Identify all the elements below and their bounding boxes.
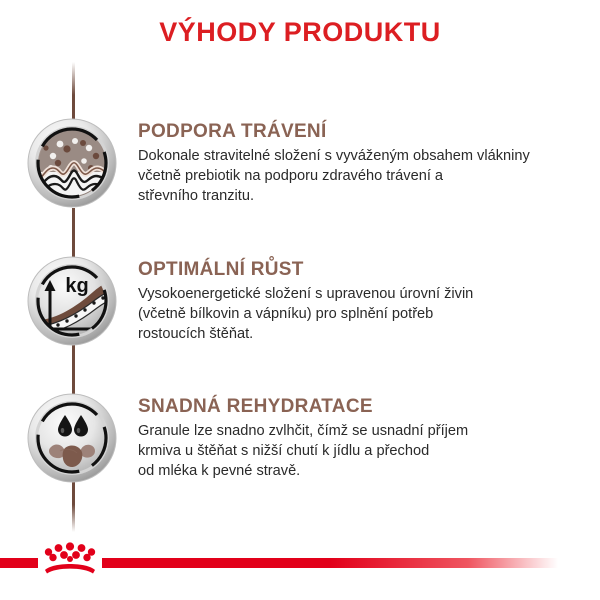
benefit-heading: OPTIMÁLNÍ RŮST — [138, 260, 583, 281]
benefit-body-line: Vysokoenergetické složení s upravenou úr… — [138, 285, 583, 305]
benefit-body-line: Granule lze snadno zvlhčit, čímž se usna… — [138, 422, 583, 442]
product-benefits-panel: VÝHODY PRODUKTU — [0, 0, 600, 600]
benefit-text-group: SNADNÁ REHYDRATACE Granule lze snadno zv… — [138, 397, 583, 481]
kg-label: kg — [65, 275, 88, 297]
benefit-text-group: PODPORA TRÁVENÍ Dokonale stravitelné slo… — [138, 122, 583, 206]
benefit-body-line: (včetně bílkovin a vápníku) pro splnění … — [138, 305, 583, 325]
benefit-text-group: OPTIMÁLNÍ RŮST Vysokoenergetické složení… — [138, 260, 583, 344]
benefit-body-line: střevního tranzitu. — [138, 187, 583, 207]
connector-line-bottom — [72, 482, 75, 532]
benefit-body-line: krmiva u štěňat s nižší chutí k jídlu a … — [138, 442, 583, 462]
digestion-icon — [27, 118, 117, 208]
connector-line-2 — [72, 345, 75, 400]
benefit-body: Dokonale stravitelné složení s vyváženým… — [138, 147, 583, 207]
benefit-body-line: včetně prebiotik na podporu zdravého trá… — [138, 167, 583, 187]
royal-canin-crown-logo — [38, 540, 102, 578]
benefit-body-line: od mléka k pevné stravě. — [138, 462, 583, 482]
connector-line-top — [72, 62, 75, 122]
benefit-body-line: Dokonale stravitelné složení s vyváženým… — [138, 147, 583, 167]
benefit-heading: PODPORA TRÁVENÍ — [138, 122, 583, 143]
benefit-body: Vysokoenergetické složení s upravenou úr… — [138, 285, 583, 345]
benefit-body-line: rostoucích štěňat. — [138, 325, 583, 345]
growth-kg-icon: kg — [27, 256, 117, 346]
page-title: VÝHODY PRODUKTU — [0, 17, 600, 48]
rehydration-icon — [27, 393, 117, 483]
benefit-body: Granule lze snadno zvlhčit, čímž se usna… — [138, 422, 583, 482]
benefit-heading: SNADNÁ REHYDRATACE — [138, 397, 583, 418]
